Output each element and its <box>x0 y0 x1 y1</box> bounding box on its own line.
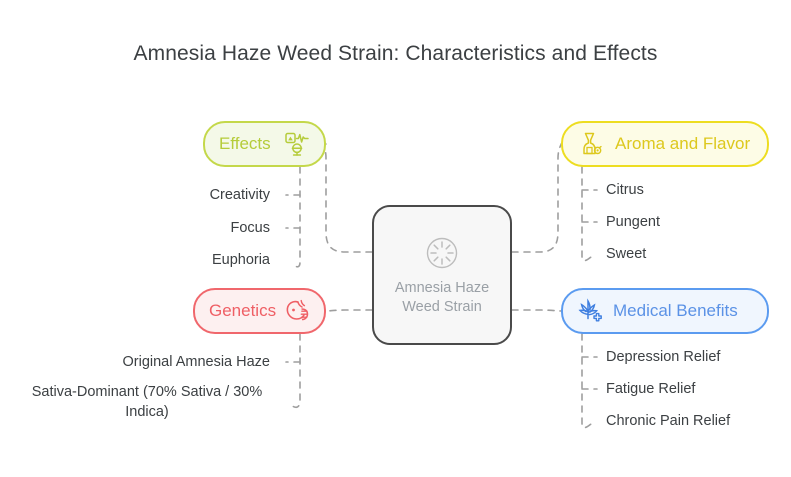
burst-icon <box>422 233 462 273</box>
spine-effects <box>292 167 300 267</box>
leaf-genetics-0: Original Amnesia Haze <box>70 352 270 372</box>
flask-flower-icon <box>577 131 603 157</box>
edge-center-effects <box>324 144 372 252</box>
leaf-genetics-1: Sativa-Dominant (70% Sativa / 30% Indica… <box>22 382 272 422</box>
dna-icon <box>284 298 310 324</box>
brain-pulse-icon <box>284 131 310 157</box>
branch-label-effects: Effects <box>219 134 271 154</box>
leaf-medical-2: Chronic Pain Relief <box>606 411 730 431</box>
leaf-effects-0: Creativity <box>150 185 270 205</box>
leaf-aroma-2: Sweet <box>606 244 646 264</box>
branch-label-genetics: Genetics <box>209 301 276 321</box>
spine-aroma <box>582 167 591 261</box>
branch-node-effects[interactable]: Effects <box>203 121 326 167</box>
central-node[interactable]: Amnesia Haze Weed Strain <box>372 205 512 345</box>
central-node-label: Amnesia Haze Weed Strain <box>387 279 497 317</box>
cannabis-cross-icon <box>577 298 603 324</box>
branch-node-genetics[interactable]: Genetics <box>193 288 326 334</box>
edge-center-genetics <box>326 310 372 311</box>
leaf-aroma-1: Pungent <box>606 212 660 232</box>
edge-center-aroma <box>512 144 561 252</box>
branch-label-aroma: Aroma and Flavor <box>615 134 750 154</box>
branch-label-medical: Medical Benefits <box>613 301 738 321</box>
leaf-effects-2: Euphoria <box>140 250 270 270</box>
leaf-medical-0: Depression Relief <box>606 347 720 367</box>
spine-medical <box>582 334 591 428</box>
branch-node-medical[interactable]: Medical Benefits <box>561 288 769 334</box>
page-title: Amnesia Haze Weed Strain: Characteristic… <box>0 42 791 66</box>
leaf-effects-1: Focus <box>150 218 270 238</box>
branch-node-aroma[interactable]: Aroma and Flavor <box>561 121 769 167</box>
leaf-medical-1: Fatigue Relief <box>606 379 695 399</box>
leaf-aroma-0: Citrus <box>606 180 644 200</box>
edge-center-medical <box>512 310 561 311</box>
spine-genetics <box>291 334 300 407</box>
mindmap-canvas: Amnesia Haze Weed Strain: Characteristic… <box>0 0 791 477</box>
